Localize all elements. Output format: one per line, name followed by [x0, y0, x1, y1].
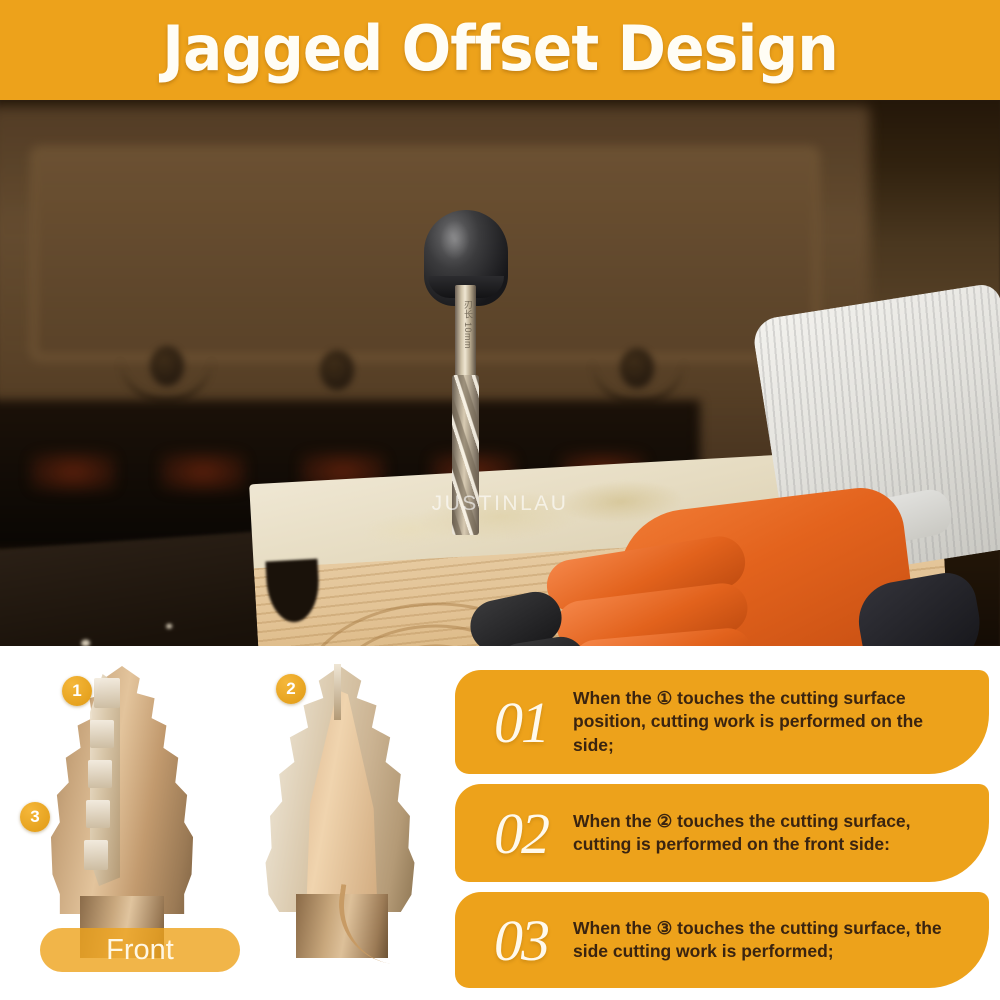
watermark: JUSTINLAU — [0, 492, 1000, 516]
background-glow — [160, 452, 246, 492]
panel-number-02: 02 — [455, 800, 573, 867]
panel-number-01: 01 — [455, 689, 573, 756]
info-panel-02: 02 When the ② touches the cutting surfac… — [455, 784, 989, 882]
drill-bit-engraving: 刃长 10mm — [457, 300, 475, 349]
cutting-edge-highlight — [88, 760, 112, 788]
drill-bit-side-tip — [334, 664, 341, 720]
callout-2: 2 — [276, 674, 306, 704]
label-front: Front — [40, 928, 240, 972]
info-panel-01: 01 When the ① touches the cutting surfac… — [455, 670, 989, 774]
header-banner: Jagged Offset Design — [0, 0, 1000, 100]
cutting-edge-highlight — [84, 840, 108, 870]
wood-chip — [81, 639, 90, 646]
background-glow — [30, 452, 116, 492]
page-title: Jagged Offset Design — [30, 6, 970, 92]
panel-text-01: When the ① touches the cutting surface p… — [573, 687, 989, 757]
hero-photo: 刃长 10mm JUSTINLAU — [0, 100, 1000, 646]
bottom-section: 1 3 Front 2 Side 01 When the ① touches t… — [0, 646, 1000, 1000]
drill-bit-front-image — [22, 660, 222, 928]
diagram-front-view: 1 3 Front — [22, 660, 222, 956]
wood-chip — [166, 624, 172, 629]
callout-1: 1 — [62, 676, 92, 706]
panel-number-03: 03 — [455, 907, 573, 974]
panel-text-02: When the ② touches the cutting surface, … — [573, 810, 989, 857]
cutting-edge-highlight — [90, 720, 114, 748]
cutting-edge-highlight — [86, 800, 110, 828]
cutting-edge-highlight — [94, 678, 120, 708]
chuck-highlight — [440, 220, 470, 260]
callout-3: 3 — [20, 802, 50, 832]
panel-text-03: When the ③ touches the cutting surface, … — [573, 917, 989, 964]
drill-bit-side-image — [240, 660, 440, 928]
cabinet-knob-icon — [320, 350, 354, 390]
info-panel-03: 03 When the ③ touches the cutting surfac… — [455, 892, 989, 988]
product-infographic: Jagged Offset Design — [0, 0, 1000, 1000]
diagram-side-view: 2 Side — [240, 660, 440, 956]
